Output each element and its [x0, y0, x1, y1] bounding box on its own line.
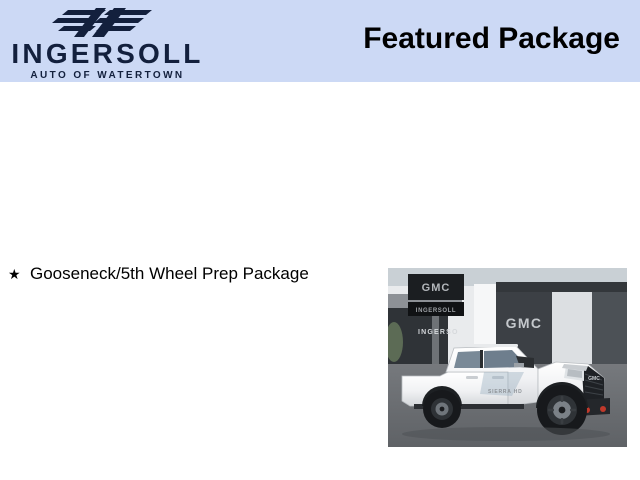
page-header: INGERSOLL AUTO OF WATERTOWN Featured Pac…	[0, 0, 640, 82]
svg-text:GMC: GMC	[588, 376, 600, 382]
page-title: Featured Package	[363, 22, 620, 56]
svg-text:GMC: GMC	[422, 282, 451, 294]
svg-text:GMC: GMC	[506, 315, 543, 331]
feature-label: Gooseneck/5th Wheel Prep Package	[30, 264, 309, 284]
feature-list: ★ Gooseneck/5th Wheel Prep Package	[8, 264, 368, 290]
ingersoll-winged-emblem-icon	[48, 8, 156, 38]
list-item: ★ Gooseneck/5th Wheel Prep Package	[8, 264, 368, 284]
svg-text:SIERRA HD: SIERRA HD	[488, 389, 523, 395]
star-bullet-icon: ★	[8, 264, 30, 284]
dealer-tagline: AUTO OF WATERTOWN	[10, 70, 205, 82]
page-content: ★ Gooseneck/5th Wheel Prep Package	[0, 82, 640, 480]
svg-text:INGERSOLL: INGERSOLL	[416, 308, 456, 314]
svg-text:INGERSO: INGERSO	[418, 329, 459, 336]
dealer-wordmark: INGERSOLL	[10, 40, 205, 68]
vehicle-photo: GMC INGERSOLL GMC INGERSO	[388, 268, 627, 447]
dealer-logo[interactable]: INGERSOLL AUTO OF WATERTOWN	[0, 4, 210, 82]
